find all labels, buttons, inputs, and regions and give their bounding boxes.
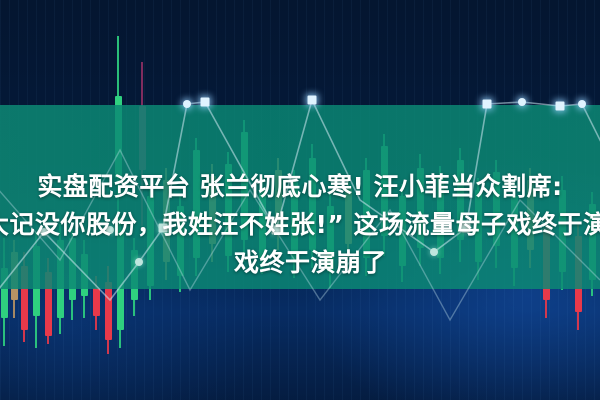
trend-node-marker — [106, 226, 114, 234]
news-banner-image: 实盘配资平台 张兰彻底心寒! 汪小菲当众割席: 大记没你股份，我姓汪不姓张!” … — [0, 0, 600, 400]
trend-node-marker — [183, 100, 191, 108]
trend-node-marker — [462, 224, 471, 233]
trend-node-marker — [430, 248, 438, 256]
trend-node-markers — [0, 0, 600, 400]
trend-node-marker — [201, 98, 210, 107]
trend-node-marker — [483, 100, 492, 109]
trend-node-marker — [518, 98, 526, 106]
trend-node-marker — [159, 224, 168, 233]
trend-node-marker — [556, 102, 565, 111]
trend-node-marker — [578, 100, 586, 108]
trend-node-marker — [135, 258, 143, 266]
trend-node-marker — [40, 228, 48, 236]
trend-node-marker — [308, 96, 317, 105]
trend-node-marker — [272, 226, 281, 235]
